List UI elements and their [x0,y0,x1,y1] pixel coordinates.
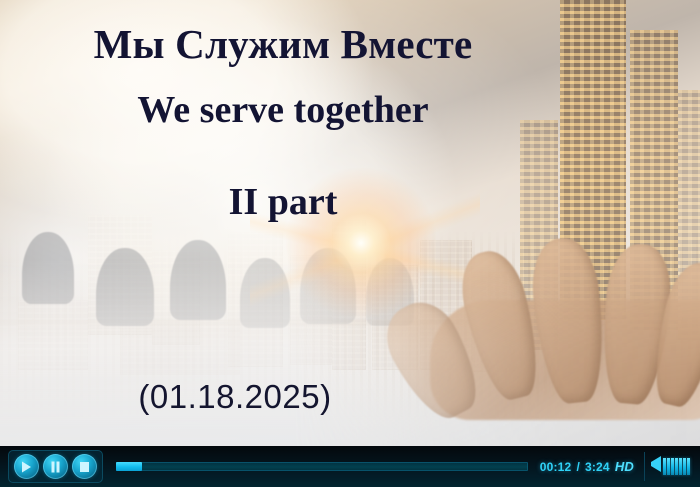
pause-button[interactable] [43,454,68,479]
transport-controls [8,450,103,483]
title-line-part: II part [0,182,566,222]
player-control-bar[interactable]: 00:12 / 3:24 HD [0,446,700,487]
volume-level-bar[interactable] [679,458,682,475]
stop-button[interactable] [72,454,97,479]
video-player[interactable]: Мы Служим Вместе We serve together II pa… [0,0,700,487]
volume-level-bar[interactable] [683,458,686,475]
current-time: 00:12 [540,460,572,474]
volume-level-bar[interactable] [687,458,690,475]
video-date: (01.18.2025) [0,378,470,416]
play-icon [21,461,32,473]
total-duration: 3:24 [585,460,610,474]
video-frame[interactable]: Мы Служим Вместе We serve together II pa… [0,0,700,446]
volume-level-bar[interactable] [667,458,670,475]
hd-quality-badge[interactable]: HD [615,459,634,474]
volume-level-bar[interactable] [671,458,674,475]
volume-level-bar[interactable] [675,458,678,475]
pause-icon [50,461,61,473]
progress-bar[interactable] [116,462,528,471]
play-button[interactable] [14,454,39,479]
stop-icon [79,461,90,473]
progress-fill [116,462,142,471]
title-line-russian: Мы Служим Вместе [0,23,566,66]
volume-level-bar[interactable] [663,458,666,475]
time-readout: 00:12 / 3:24 HD [540,459,634,474]
volume-control[interactable] [644,452,694,481]
title-line-english: We serve together [0,90,566,130]
time-separator: / [576,460,580,474]
speaker-icon [649,455,662,478]
